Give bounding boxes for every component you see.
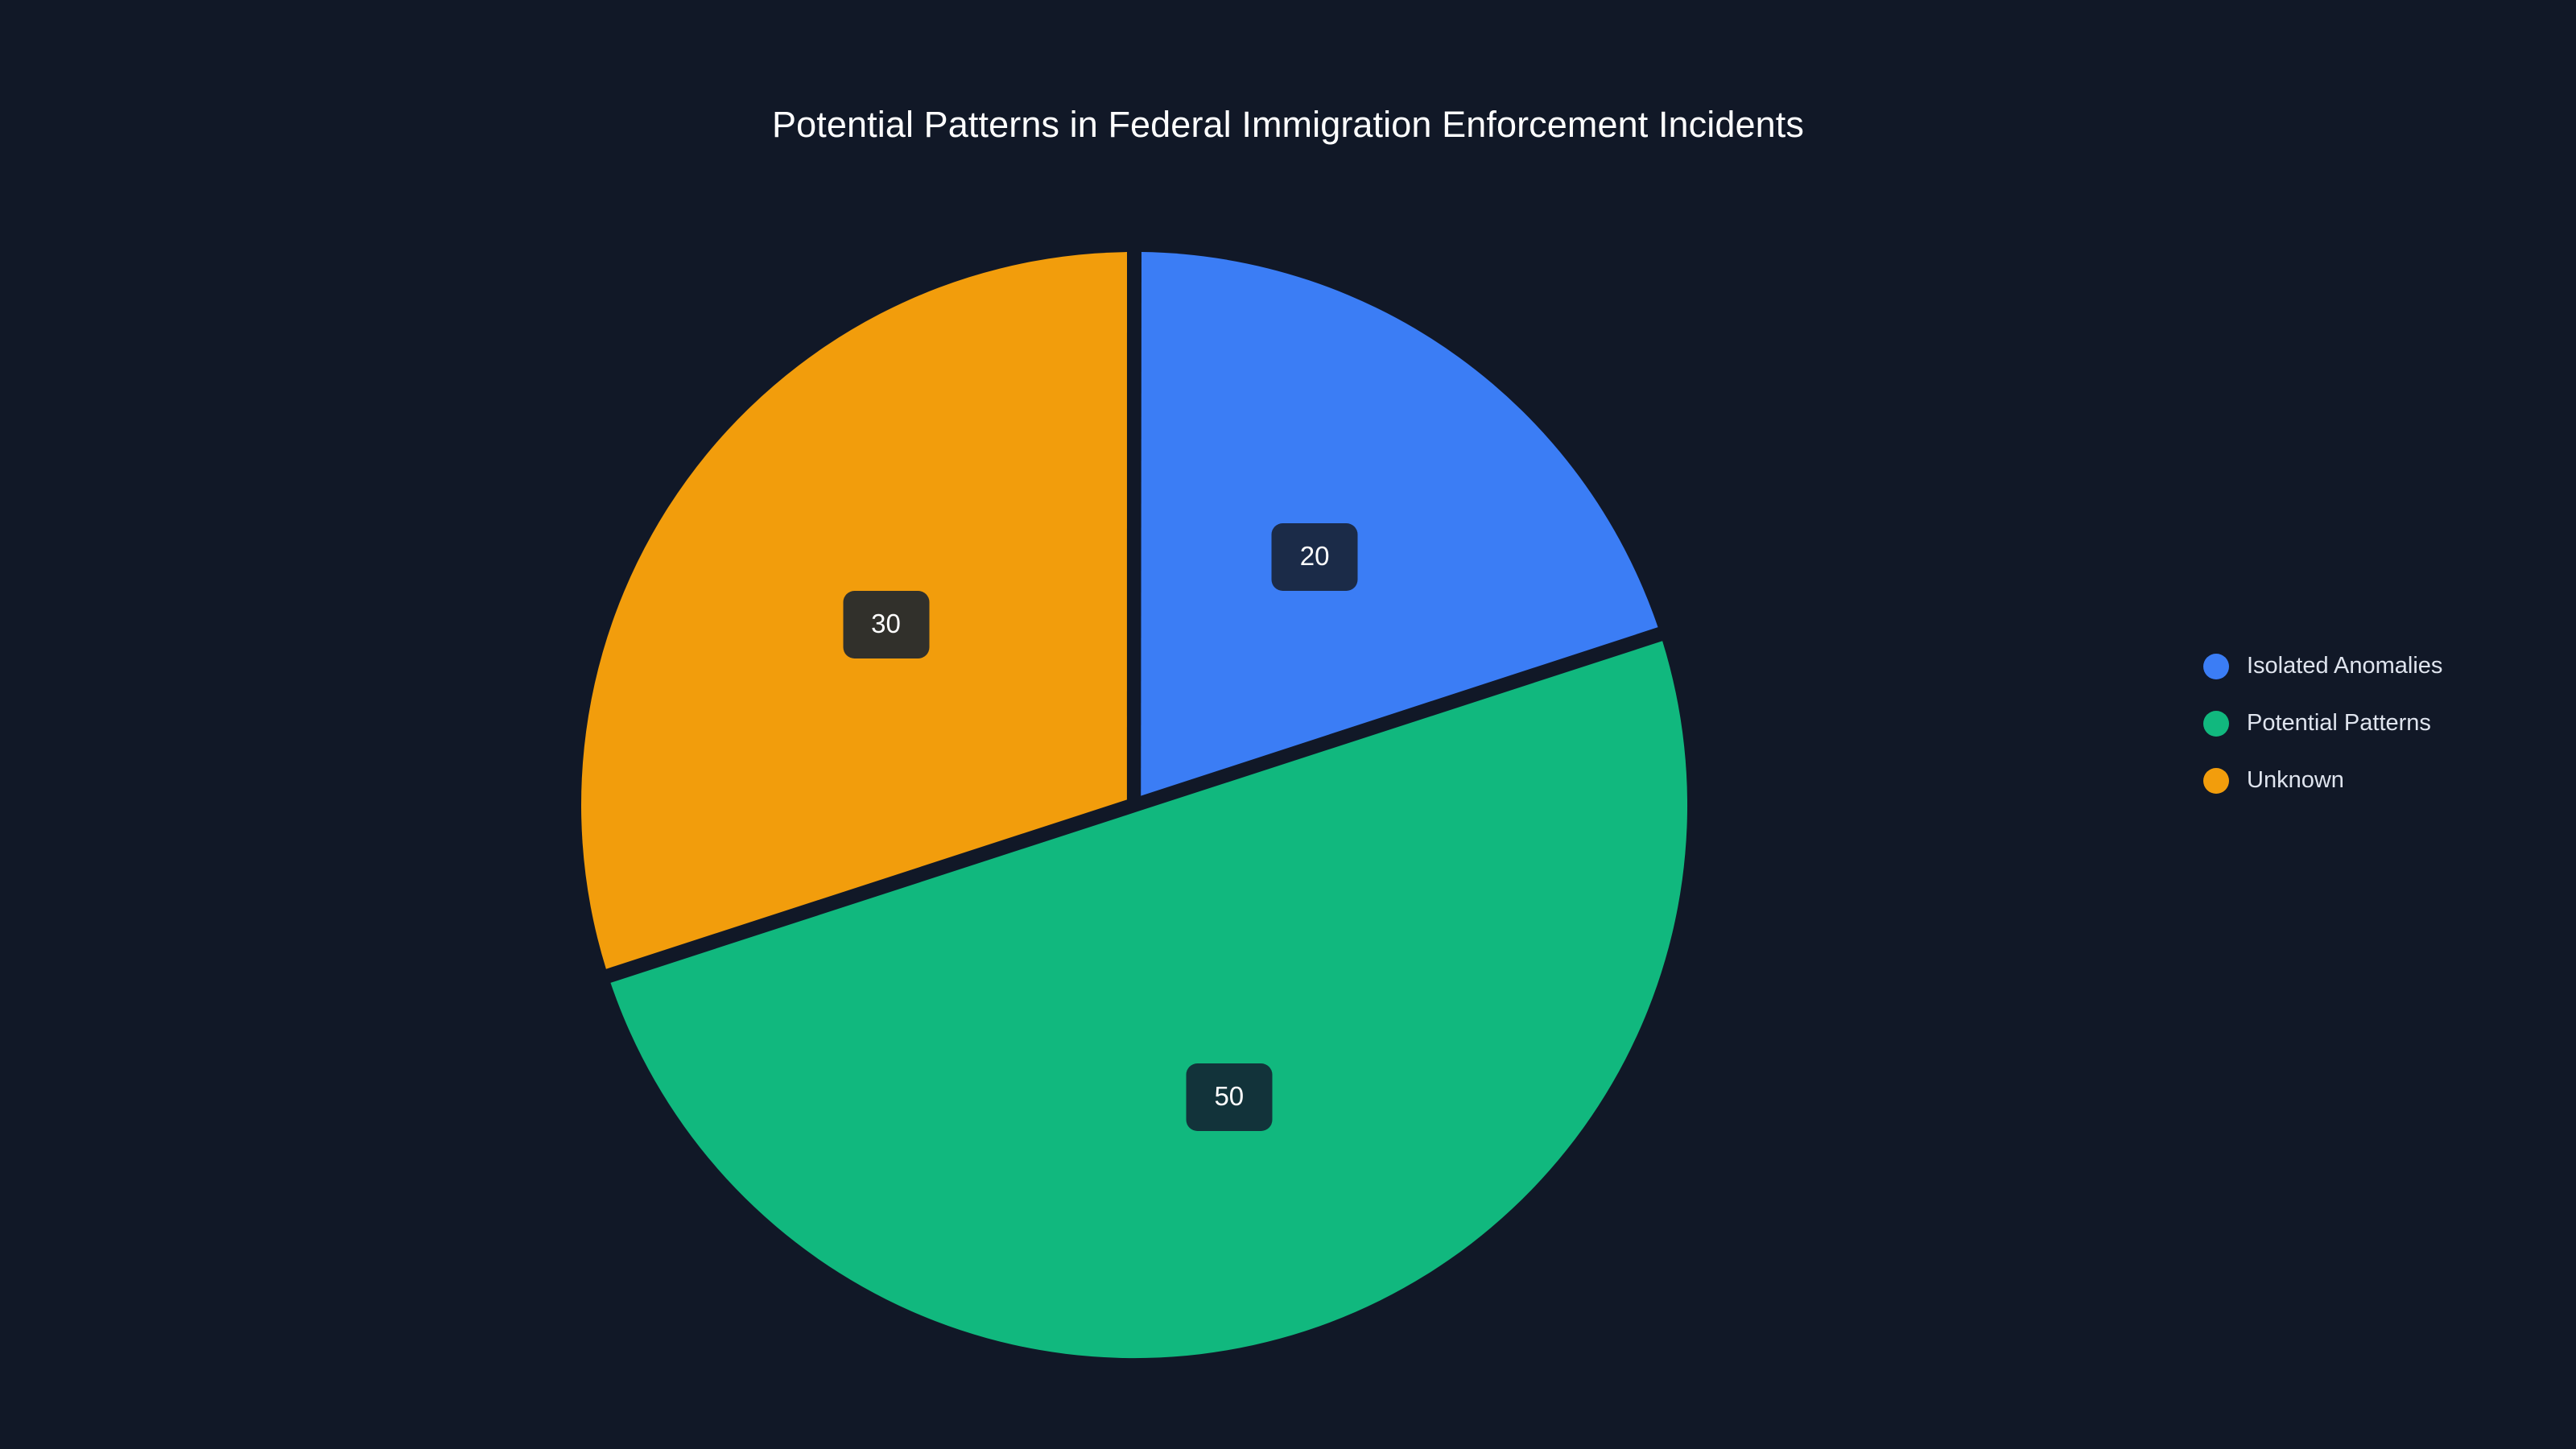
- legend-item-potential-patterns[interactable]: Potential Patterns: [2203, 695, 2442, 752]
- legend-item-label: Isolated Anomalies: [2247, 654, 2442, 678]
- legend-color-swatch-icon: [2203, 711, 2229, 737]
- data-label-value: 20: [1300, 543, 1330, 569]
- pie-svg: [0, 0, 2061, 1449]
- legend-item-unknown[interactable]: Unknown: [2203, 752, 2442, 809]
- legend-item-label: Potential Patterns: [2247, 712, 2431, 735]
- legend-color-swatch-icon: [2203, 768, 2229, 794]
- pie-chart-canvas: Potential Patterns in Federal Immigratio…: [0, 0, 2576, 1449]
- legend-color-swatch-icon: [2203, 654, 2229, 679]
- legend-item-isolated-anomalies[interactable]: Isolated Anomalies: [2203, 638, 2442, 695]
- pie-slice-group: [581, 252, 1687, 1358]
- data-label-value: 50: [1214, 1083, 1244, 1109]
- legend-item-label: Unknown: [2247, 769, 2344, 792]
- data-label-value: 30: [871, 610, 901, 637]
- data-label-isolated-anomalies: 20: [1272, 523, 1358, 591]
- data-label-unknown: 30: [843, 591, 929, 658]
- chart-legend: Isolated Anomalies Potential Patterns Un…: [2203, 638, 2442, 809]
- pie-plot-area: 20 50 30: [0, 0, 2061, 1449]
- data-label-potential-patterns: 50: [1186, 1063, 1272, 1131]
